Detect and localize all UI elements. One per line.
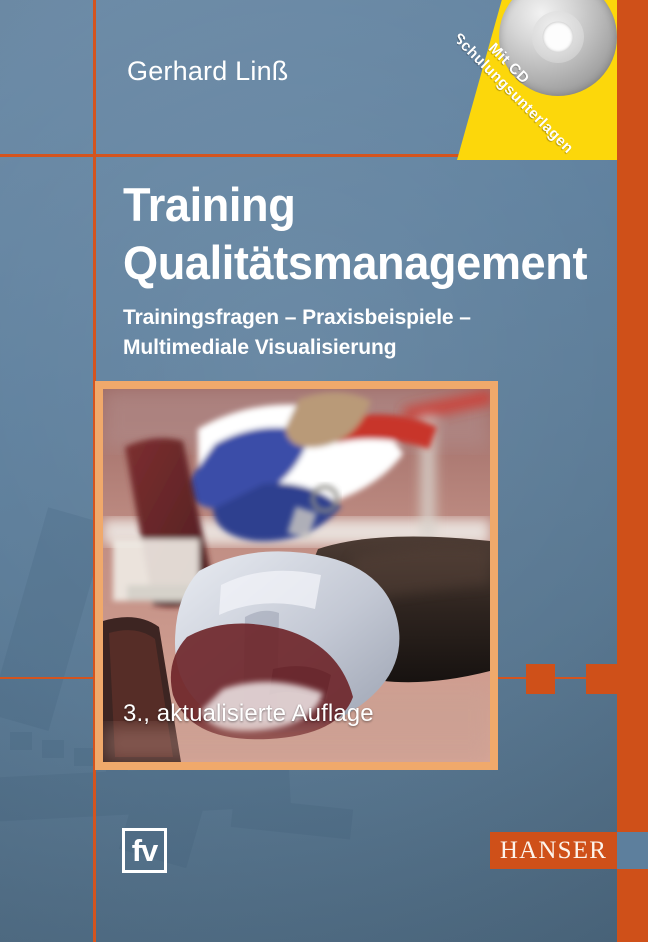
subtitle-line-1: Trainingsfragen – Praxisbeispiele – bbox=[123, 306, 471, 329]
title-line-1: Training bbox=[123, 178, 295, 231]
decorative-square-3 bbox=[586, 664, 619, 694]
fachbuchverlag-logo: fv bbox=[122, 828, 167, 873]
author-name: Gerhard Linß bbox=[127, 56, 288, 87]
hanser-logo: HANSER bbox=[490, 832, 617, 869]
hanser-logo-text: HANSER bbox=[500, 837, 607, 865]
fv-logo-text: fv bbox=[132, 835, 158, 866]
decorative-square-2 bbox=[526, 664, 555, 694]
right-orange-band bbox=[617, 0, 648, 942]
cd-hole bbox=[543, 22, 574, 53]
edition-text: 3., aktualisierte Auflage bbox=[123, 700, 374, 728]
book-cover: Mit CD Schulungsunterlagen Gerhard Linß … bbox=[0, 0, 648, 942]
subtitle-line-2: Multimediale Visualisierung bbox=[123, 333, 471, 363]
cd-badge: Mit CD Schulungsunterlagen bbox=[457, 0, 617, 160]
book-subtitle: Trainingsfragen – Praxisbeispiele – Mult… bbox=[123, 303, 471, 363]
title-line-2: Qualitätsmanagement bbox=[123, 234, 587, 292]
book-title: Training Qualitätsmanagement bbox=[123, 176, 587, 292]
right-band-notch bbox=[617, 832, 648, 869]
